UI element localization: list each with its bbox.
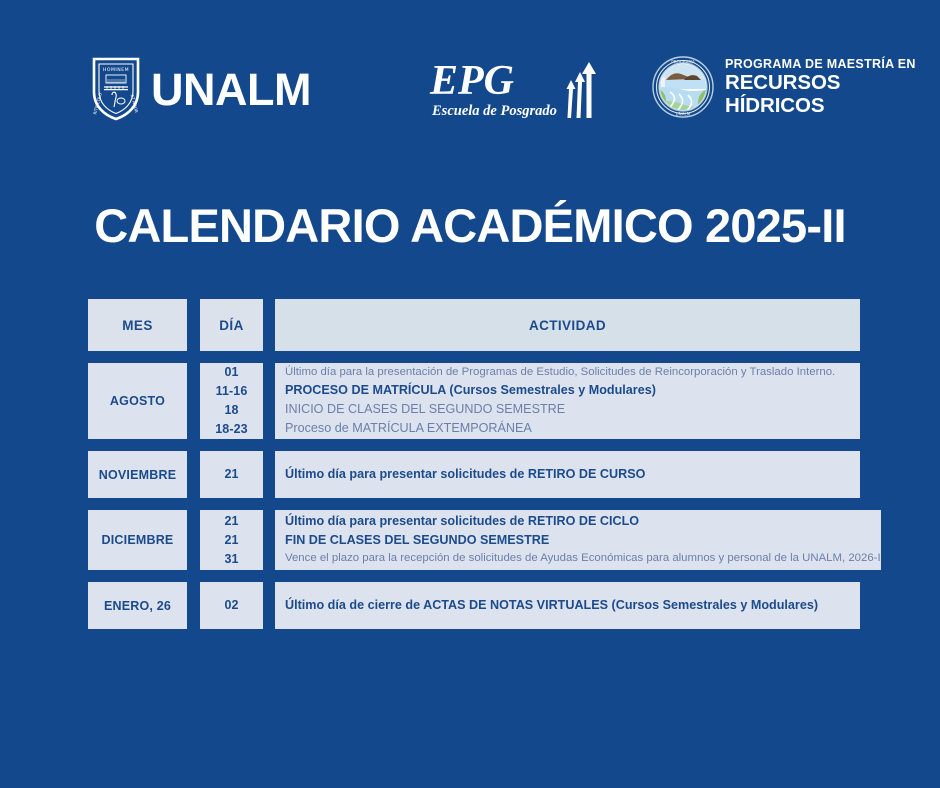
logo-epg: EPG Escuela de Posgrado xyxy=(430,62,601,131)
actividad-line: INICIO DE CLASES DEL SEGUNDO SEMESTRE xyxy=(285,400,860,419)
table-row: AGOSTO0111-161818-23Último día para la p… xyxy=(88,363,860,439)
table-row: DICIEMBRE212131Último día para presentar… xyxy=(88,510,860,570)
dia-value: 21 xyxy=(224,512,238,531)
epg-acronym: EPG xyxy=(430,62,514,102)
cell-mes: DICIEMBRE xyxy=(88,510,187,570)
cell-mes: NOVIEMBRE xyxy=(88,451,187,498)
column-header-mes: MES xyxy=(88,299,187,351)
academic-calendar-table: MES DÍA ACTIVIDAD AGOSTO0111-161818-23Úl… xyxy=(88,299,860,641)
dia-value: 11-16 xyxy=(216,382,248,401)
logo-recursos-hidricos: PROGRAMA UNALM PROGRAMA DE MAESTRÍA EN R… xyxy=(652,56,940,118)
unalm-wordmark: UNALM xyxy=(151,67,311,112)
calendar-poster: { "theme": { "background": "#13498c", "c… xyxy=(0,0,940,788)
table-row: ENERO, 2602Último día de cierre de ACTAS… xyxy=(88,582,860,629)
actividad-line: Vence el plazo para la recepción de soli… xyxy=(285,550,881,567)
dia-value: 18 xyxy=(224,401,238,420)
table-header-row: MES DÍA ACTIVIDAD xyxy=(88,299,860,351)
svg-text:PROGRAMA: PROGRAMA xyxy=(671,60,695,65)
recursos-hidricos-seal-icon: PROGRAMA UNALM xyxy=(652,56,714,118)
cell-dia: 02 xyxy=(200,582,263,629)
dia-value: 02 xyxy=(224,596,238,615)
logo-strip: HOMINEM RITE COLO ET AQUA UNALM EPG Escu… xyxy=(0,48,940,148)
actividad-line: Último día de cierre de ACTAS DE NOTAS V… xyxy=(285,596,860,615)
column-header-actividad: ACTIVIDAD xyxy=(529,318,606,333)
table-body: AGOSTO0111-161818-23Último día para la p… xyxy=(88,363,860,629)
cell-dia: 21 xyxy=(200,451,263,498)
column-header-dia: DÍA xyxy=(200,299,263,351)
actividad-line: FIN DE CLASES DEL SEGUNDO SEMESTRE xyxy=(285,531,881,550)
actividad-line: Último día para presentar solicitudes de… xyxy=(285,512,881,531)
cell-actividad: Último día para presentar solicitudes de… xyxy=(275,510,881,570)
dia-value: 21 xyxy=(224,465,238,484)
dia-value: 21 xyxy=(224,531,238,550)
cell-mes: ENERO, 26 xyxy=(88,582,187,629)
recursos-hidricos-line2: RECURSOS HÍDRICOS xyxy=(725,72,940,117)
svg-text:UNALM: UNALM xyxy=(676,111,691,116)
unalm-shield-icon: HOMINEM RITE COLO ET AQUA xyxy=(90,56,142,122)
dia-value: 31 xyxy=(224,550,238,569)
cell-dia: 212131 xyxy=(200,510,263,570)
column-header-actividad-cell: ACTIVIDAD xyxy=(275,299,860,351)
svg-text:HOMINEM: HOMINEM xyxy=(103,67,129,73)
actividad-line: Último día para presentar solicitudes de… xyxy=(285,465,860,484)
cell-dia: 0111-161818-23 xyxy=(200,363,263,439)
dia-value: 01 xyxy=(224,363,238,382)
cell-actividad: Último día de cierre de ACTAS DE NOTAS V… xyxy=(275,582,860,629)
cell-actividad: Último día para la presentación de Progr… xyxy=(275,363,860,439)
actividad-line: Último día para la presentación de Progr… xyxy=(285,364,860,381)
epg-subtitle: Escuela de Posgrado xyxy=(432,103,557,120)
table-row: NOVIEMBRE21Último día para presentar sol… xyxy=(88,451,860,498)
actividad-line: PROCESO DE MATRÍCULA (Cursos Semestrales… xyxy=(285,381,860,400)
cell-actividad: Último día para presentar solicitudes de… xyxy=(275,451,860,498)
cell-mes: AGOSTO xyxy=(88,363,187,439)
page-title: CALENDARIO ACADÉMICO 2025-II xyxy=(0,198,940,253)
actividad-line: Proceso de MATRÍCULA EXTEMPORÁNEA xyxy=(285,419,860,438)
epg-arrows-icon xyxy=(555,58,601,131)
dia-value: 18-23 xyxy=(215,420,247,439)
recursos-hidricos-line1: PROGRAMA DE MAESTRÍA EN xyxy=(725,57,940,71)
logo-unalm: HOMINEM RITE COLO ET AQUA UNALM xyxy=(90,56,311,122)
